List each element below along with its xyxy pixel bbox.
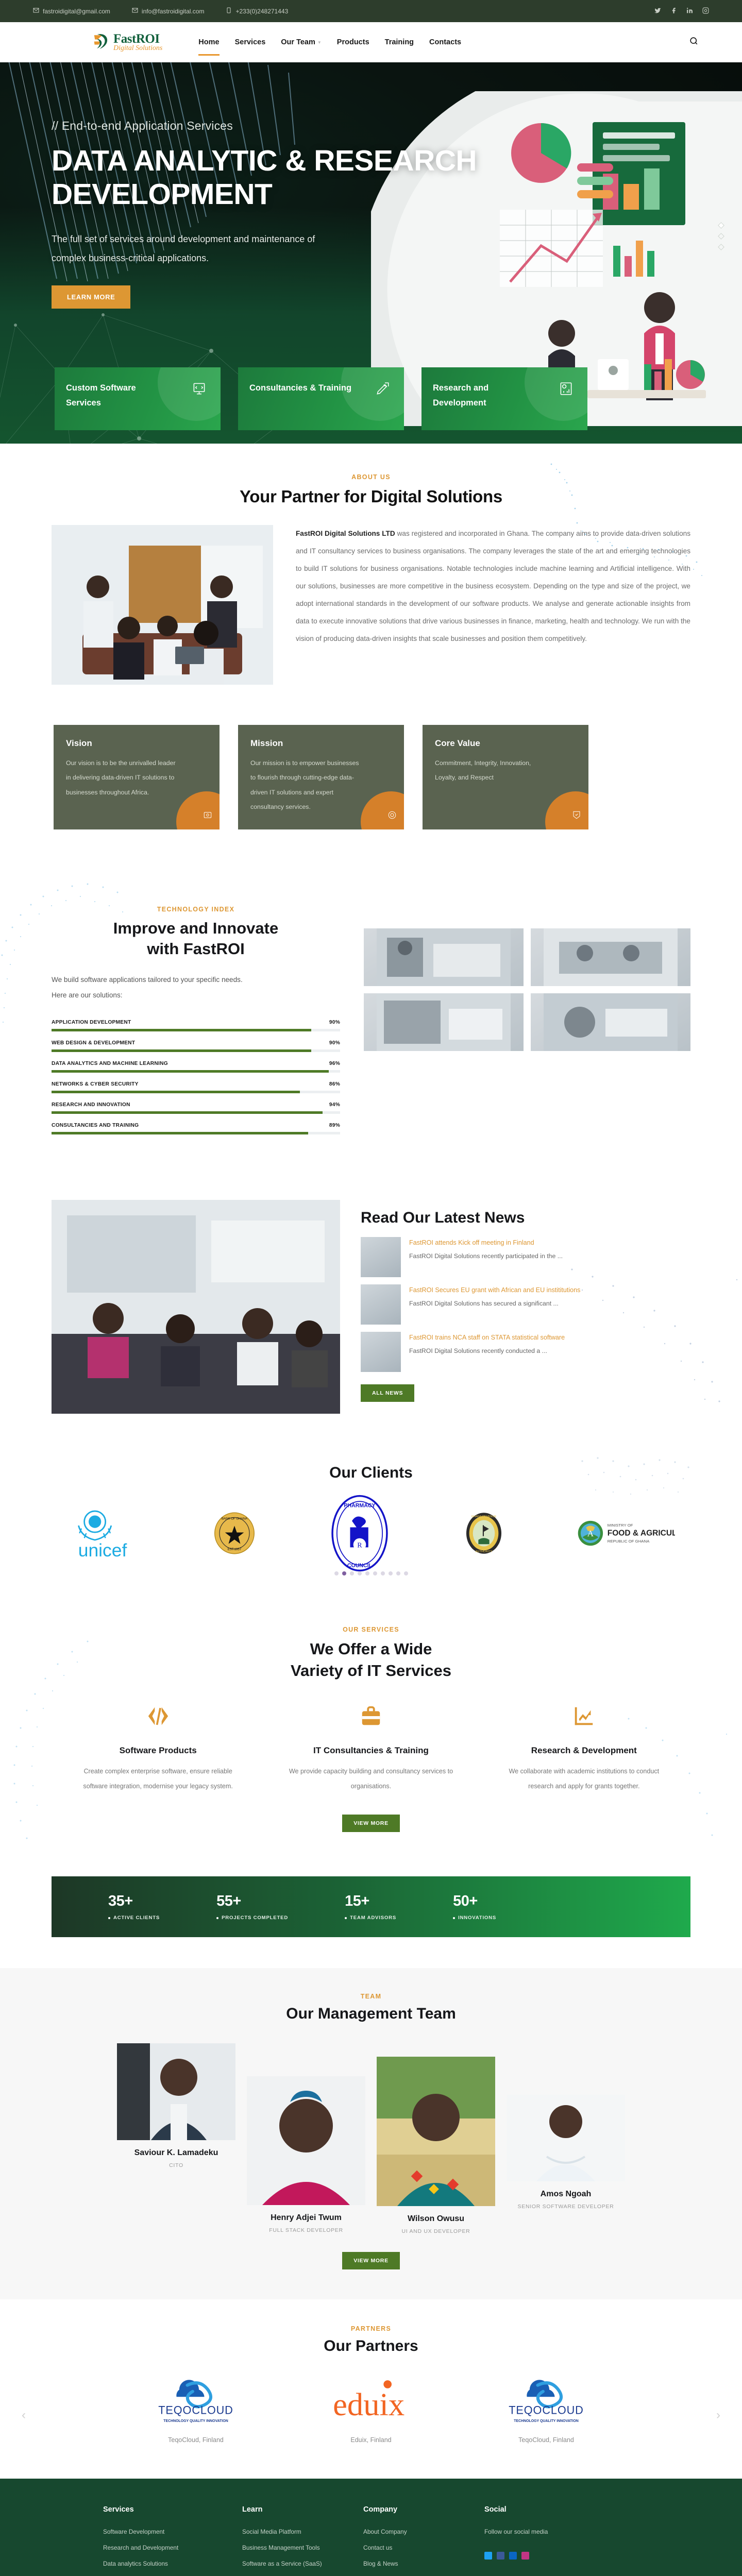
- clients-carousel-dot[interactable]: [334, 1571, 339, 1575]
- clients-carousel-dot[interactable]: [396, 1571, 400, 1575]
- footer-link[interactable]: Software Development: [103, 2528, 242, 2535]
- envelope-icon: [33, 7, 39, 15]
- stat-label: TEAM ADVISORS: [345, 1915, 396, 1921]
- topbar-phone[interactable]: +233(0)248271443: [226, 7, 288, 15]
- partner-card-teqocloud-1: TEQOCLOUD TECHNOLOGY QUALITY INNOVATION …: [137, 2372, 255, 2444]
- decorative-dot-field: [562, 1259, 742, 1429]
- tech-photo-3: [364, 993, 524, 1051]
- team-member-name: Amos Ngoah: [507, 2190, 625, 2199]
- svg-text:REPUBLIC OF GHANA: REPUBLIC OF GHANA: [608, 1539, 650, 1544]
- news-heading: Read Our Latest News: [361, 1209, 690, 1227]
- bar-track: [52, 1070, 340, 1073]
- twitter-icon[interactable]: [484, 2552, 492, 2560]
- footer-link[interactable]: Data analytics Solutions: [103, 2560, 242, 2567]
- stat-item: 50+INNOVATIONS: [453, 1893, 496, 1921]
- bar-value: 90%: [329, 1040, 340, 1046]
- stat-number: 15+: [345, 1893, 396, 1910]
- svg-text:MINISTRY OF: MINISTRY OF: [608, 1523, 633, 1528]
- topbar-email-1[interactable]: fastroidigital@gmail.com: [33, 7, 110, 15]
- search-icon[interactable]: [689, 36, 699, 48]
- svg-text:A: A: [587, 1529, 594, 1538]
- partner-card-eduix: eduix Eduix, Finland: [312, 2372, 430, 2444]
- offer-heading: We Offer a Wide Variety of IT Services: [52, 1638, 690, 1682]
- tech-photo-2: [531, 928, 690, 986]
- technology-index-bar-row: CONSULTANCIES AND TRAINING89%: [52, 1123, 340, 1134]
- hero-slider-dots[interactable]: [719, 217, 723, 256]
- nav-item-contacts[interactable]: Contacts: [429, 25, 461, 60]
- site-logo[interactable]: FastROI Digital Solutions: [89, 30, 162, 54]
- offer-view-more-button[interactable]: VIEW MORE: [342, 1815, 400, 1832]
- partners-heading: Our Partners: [0, 2337, 742, 2355]
- svg-text:unicef: unicef: [78, 1539, 127, 1560]
- client-logo-bank-of-ghana: BANK OF GHANA EST.1957: [213, 1502, 256, 1564]
- footer-link[interactable]: Research and Development: [103, 2544, 242, 2551]
- clients-carousel-dot[interactable]: [342, 1571, 346, 1575]
- team-member-card: Wilson Owusu UI AND UX DEVELOPER: [377, 2057, 495, 2234]
- site-header: FastROI Digital Solutions Home Services …: [0, 22, 742, 62]
- mission-text: Our mission is to empower businesses to …: [250, 756, 361, 814]
- technology-index-section: TECHNOLOGY INDEX Improve and Innovate wi…: [0, 879, 742, 1163]
- topbar-email-2[interactable]: info@fastroidigital.com: [132, 7, 205, 15]
- service-card-title: Research and Development: [433, 381, 536, 411]
- tech-photo-4: [531, 993, 690, 1051]
- footer-columns: ServicesSoftware DevelopmentResearch and…: [52, 2505, 690, 2576]
- hero-slider-dot-3[interactable]: [718, 244, 724, 250]
- partners-carousel: ‹ TEQOCLOUD TECHNOLOGY QUALITY INNOVATIO…: [0, 2372, 742, 2444]
- bar-fill: [52, 1091, 300, 1093]
- team-member-photo: [247, 2076, 365, 2205]
- service-cards-strip: Custom Software Services Consultancies &…: [52, 367, 690, 430]
- offer-card-text: We provide capacity building and consult…: [285, 1764, 457, 1794]
- team-grid: Saviour K. Lamadeku CITO Henry Adjei Twu…: [0, 2043, 742, 2234]
- footer-column-title: Social: [484, 2505, 605, 2514]
- footer-link[interactable]: Business Management Tools: [242, 2544, 363, 2551]
- decorative-dot-field: [577, 1453, 701, 1515]
- mission-card: Mission Our mission is to empower busine…: [238, 725, 404, 829]
- vision-text: Our vision is to be the unrivalled leade…: [66, 756, 177, 800]
- svg-text:COUNCIL: COUNCIL: [347, 1563, 373, 1569]
- chevron-down-icon: ▼: [317, 40, 322, 45]
- team-member-name: Wilson Owusu: [377, 2214, 495, 2224]
- bar-value: 96%: [329, 1061, 340, 1066]
- eduix-logo: eduix: [319, 2372, 423, 2427]
- tech-photo-grid: [364, 879, 690, 1051]
- tech-photo-1: [364, 928, 524, 986]
- offer-card-it-consultancies: IT Consultancies & Training We provide c…: [264, 1704, 477, 1794]
- stat-number: 35+: [108, 1893, 160, 1910]
- svg-text:EST.1957: EST.1957: [227, 1547, 241, 1551]
- twitter-icon[interactable]: [654, 7, 661, 15]
- facebook-icon[interactable]: [670, 7, 677, 15]
- decorative-dot-field: [618, 1714, 742, 1848]
- clients-section: Our Clients unicef BANK OF GHANA EST.195: [0, 1464, 742, 1591]
- news-thumbnail: [361, 1237, 401, 1277]
- partner-caption: TeqoCloud, Finland: [487, 2436, 605, 2444]
- bar-label: NETWORKS & CYBER SECURITY: [52, 1081, 139, 1087]
- hero-learn-more-button[interactable]: LEARN MORE: [52, 285, 130, 309]
- bar-track: [52, 1049, 340, 1052]
- client-logo-ghana-revenue-authority: GHANA REVENUE AUTHORITY: [464, 1502, 504, 1564]
- bar-track: [52, 1091, 340, 1093]
- clients-carousel-dot[interactable]: [404, 1571, 408, 1575]
- bar-fill: [52, 1070, 329, 1073]
- stat-item: 35+ACTIVE CLIENTS: [108, 1893, 160, 1921]
- our-services-section: OUR SERVICES We Offer a Wide Variety of …: [0, 1626, 742, 1848]
- footer-link[interactable]: Social Media Platform: [242, 2528, 363, 2535]
- clients-carousel-dot[interactable]: [373, 1571, 377, 1575]
- mission-title: Mission: [250, 738, 392, 749]
- vision-eye-icon: [203, 810, 212, 822]
- technology-index-bar-row: RESEARCH AND INNOVATION94%: [52, 1102, 340, 1114]
- value-badge-icon: [572, 810, 581, 822]
- decorative-dot-field: [0, 879, 201, 1059]
- partners-next-arrow[interactable]: ›: [716, 2408, 720, 2422]
- monitor-code-icon: [192, 382, 206, 398]
- svg-text:BANK OF GHANA: BANK OF GHANA: [221, 1517, 247, 1520]
- vision-mission-values: Vision Our vision is to be the unrivalle…: [52, 725, 690, 829]
- topbar-phone-text: +233(0)248271443: [235, 8, 288, 15]
- bar-label: CONSULTANCIES AND TRAINING: [52, 1123, 139, 1128]
- team-member-role: UI AND UX DEVELOPER: [377, 2228, 495, 2234]
- about-photo: [52, 525, 273, 685]
- stat-number: 55+: [216, 1893, 288, 1910]
- bar-label: DATA ANALYTICS AND MACHINE LEARNING: [52, 1061, 168, 1066]
- envelope-icon: [132, 7, 138, 15]
- footer-column-social: SocialFollow our social media: [484, 2505, 605, 2576]
- footer-link[interactable]: About Company: [363, 2528, 484, 2535]
- bar-fill: [52, 1049, 311, 1052]
- linkedin-icon[interactable]: [509, 2552, 517, 2560]
- hero-slider-dot-1[interactable]: [718, 222, 724, 229]
- footer-link[interactable]: Software as a Service (SaaS): [242, 2560, 363, 2567]
- offer-heading-line1: We Offer a Wide: [310, 1640, 432, 1658]
- topbar-email-1-text: fastroidigital@gmail.com: [43, 8, 110, 15]
- bar-track: [52, 1029, 340, 1031]
- bar-track: [52, 1111, 340, 1114]
- partner-caption: Eduix, Finland: [312, 2436, 430, 2444]
- core-value-text: Commitment, Integrity, Innovation, Loyal…: [435, 756, 546, 785]
- teqocloud-logo: TEQOCLOUD TECHNOLOGY QUALITY INNOVATION: [495, 2372, 598, 2427]
- core-value-card: Core Value Commitment, Integrity, Innova…: [423, 725, 588, 829]
- all-news-button[interactable]: ALL NEWS: [361, 1384, 414, 1402]
- technology-index-bar-row: NETWORKS & CYBER SECURITY86%: [52, 1081, 340, 1093]
- bar-value: 86%: [329, 1081, 340, 1087]
- team-member-role: CITO: [117, 2162, 235, 2168]
- stat-item: 15+TEAM ADVISORS: [345, 1893, 396, 1921]
- svg-text:TECHNOLOGY QUALITY INNOVAT: TECHNOLOGY QUALITY INNOVATION: [514, 2419, 579, 2423]
- team-member-card: Henry Adjei Twum FULL STACK DEVELOPER: [247, 2076, 365, 2233]
- svg-text:eduix: eduix: [333, 2386, 404, 2422]
- team-heading: Our Management Team: [0, 2005, 742, 2023]
- service-card-title: Consultancies & Training: [249, 381, 352, 396]
- nav-item-products[interactable]: Products: [337, 25, 369, 60]
- svg-text:AUTHORITY: AUTHORITY: [475, 1550, 492, 1553]
- news-item-title[interactable]: FastROI attends Kick off meeting in Finl…: [409, 1237, 690, 1248]
- nav-item-our-team[interactable]: Our Team▼: [281, 25, 322, 60]
- vision-card: Vision Our vision is to be the unrivalle…: [54, 725, 220, 829]
- latest-news-section: Read Our Latest News FastROI attends Kic…: [0, 1200, 742, 1434]
- partner-card-teqocloud-2: TEQOCLOUD TECHNOLOGY QUALITY INNOVATION …: [487, 2372, 605, 2444]
- vision-title: Vision: [66, 738, 207, 749]
- clients-carousel-dot[interactable]: [381, 1571, 385, 1575]
- clients-carousel-dot[interactable]: [365, 1571, 369, 1575]
- utility-topbar: fastroidigital@gmail.com info@fastroidig…: [0, 0, 742, 22]
- technology-index-bar-row: DATA ANALYTICS AND MACHINE LEARNING96%: [52, 1061, 340, 1073]
- clients-carousel-dot[interactable]: [358, 1571, 362, 1575]
- news-thumbnail: [361, 1332, 401, 1372]
- bar-fill: [52, 1111, 323, 1114]
- hero-slider-dot-2[interactable]: [718, 233, 724, 240]
- offer-heading-line2: Variety of IT Services: [291, 1662, 451, 1680]
- bar-value: 89%: [329, 1123, 340, 1128]
- topbar-email-2-text: info@fastroidigital.com: [142, 8, 205, 15]
- partner-caption: TeqoCloud, Finland: [137, 2436, 255, 2444]
- nav-item-training[interactable]: Training: [385, 25, 414, 60]
- stats-band: 35+ACTIVE CLIENTS55+PROJECTS COMPLETED15…: [52, 1876, 690, 1937]
- hero-title: DATA ANALYTIC & RESEARCH DEVELOPMENT: [52, 144, 484, 211]
- team-kicker: TEAM: [0, 1993, 742, 2000]
- service-card-title: Custom Software Services: [66, 381, 169, 411]
- instagram-icon[interactable]: [702, 7, 709, 15]
- decorative-dot-swirl: [536, 459, 706, 588]
- hero-eyebrow: // End-to-end Application Services: [52, 119, 690, 133]
- clients-carousel-dots[interactable]: [52, 1571, 690, 1575]
- teqocloud-logo: TEQOCLOUD TECHNOLOGY QUALITY INNOVATION: [144, 2372, 247, 2427]
- nav-item-services[interactable]: Services: [235, 25, 266, 60]
- bar-track: [52, 1132, 340, 1134]
- nav-item-home[interactable]: Home: [198, 25, 219, 60]
- bar-fill: [52, 1029, 311, 1031]
- chart-report-icon: [559, 382, 573, 398]
- pen-tools-icon: [376, 382, 390, 398]
- svg-text:TEQOCLOUD: TEQOCLOUD: [158, 2404, 233, 2417]
- footer-column-title: Company: [363, 2505, 484, 2514]
- footer-column-learn: LearnSocial Media PlatformBusiness Manag…: [242, 2505, 363, 2576]
- footer-link[interactable]: Blog & News: [363, 2560, 484, 2567]
- stat-label: INNOVATIONS: [453, 1915, 496, 1921]
- footer-social-text: Follow our social media: [484, 2528, 605, 2535]
- client-logo-unicef: unicef: [67, 1502, 139, 1564]
- facebook-icon[interactable]: [497, 2552, 504, 2560]
- about-section: ABOUT US Your Partner for Digital Soluti…: [0, 430, 742, 685]
- service-card-custom-software[interactable]: Custom Software Services: [55, 367, 221, 430]
- mission-target-icon: [387, 810, 397, 822]
- phone-icon: [226, 7, 232, 15]
- hero-subtitle: The full set of services around developm…: [52, 230, 340, 268]
- decorative-dot-field: [0, 1636, 103, 1848]
- footer-column-title: Learn: [242, 2505, 363, 2514]
- news-thumbnail: [361, 1284, 401, 1325]
- team-member-role: FULL STACK DEVELOPER: [247, 2227, 365, 2233]
- site-footer: ServicesSoftware DevelopmentResearch and…: [0, 2479, 742, 2576]
- management-team-section: TEAM Our Management Team Saviour K. Lama…: [0, 1968, 742, 2299]
- partners-kicker: PARTNERS: [0, 2325, 742, 2332]
- svg-text:TEQOCLOUD: TEQOCLOUD: [509, 2404, 583, 2417]
- instagram-icon[interactable]: [521, 2552, 529, 2560]
- footer-social-icons: [484, 2552, 605, 2560]
- bar-value: 90%: [329, 1020, 340, 1025]
- offer-kicker: OUR SERVICES: [52, 1626, 690, 1633]
- svg-text:FOOD & AGRICULTURE: FOOD & AGRICULTURE: [608, 1529, 675, 1537]
- team-member-card: Amos Ngoah SENIOR SOFTWARE DEVELOPER: [507, 2095, 625, 2210]
- briefcase-icon: [285, 1704, 457, 1731]
- main-navigation: Home Services Our Team▼ Products Trainin…: [198, 25, 461, 60]
- bar-label: RESEARCH AND INNOVATION: [52, 1102, 130, 1108]
- about-lead-bold: FastROI Digital Solutions LTD: [296, 530, 395, 537]
- team-member-role: SENIOR SOFTWARE DEVELOPER: [507, 2204, 625, 2210]
- team-member-photo: [377, 2057, 495, 2206]
- partners-prev-arrow[interactable]: ‹: [22, 2408, 26, 2422]
- team-member-photo: [507, 2095, 625, 2181]
- logo-tagline: Digital Solutions: [113, 45, 162, 52]
- team-member-photo: [117, 2043, 235, 2140]
- team-member-name: Henry Adjei Twum: [247, 2213, 365, 2223]
- team-member-card: Saviour K. Lamadeku CITO: [117, 2043, 235, 2168]
- topbar-social-links: [654, 7, 709, 15]
- footer-column-title: Services: [103, 2505, 242, 2514]
- stat-label: ACTIVE CLIENTS: [108, 1915, 160, 1921]
- stat-number: 50+: [453, 1893, 496, 1910]
- stat-item: 55+PROJECTS COMPLETED: [216, 1893, 288, 1921]
- svg-text:PHARMACY: PHARMACY: [344, 1502, 375, 1509]
- stat-label: PROJECTS COMPLETED: [216, 1915, 288, 1921]
- bar-fill: [52, 1132, 308, 1134]
- linkedin-icon[interactable]: [686, 7, 693, 15]
- service-card-research-development[interactable]: Research and Development: [421, 367, 587, 430]
- news-feature-photo: [52, 1200, 340, 1414]
- core-value-title: Core Value: [435, 738, 576, 749]
- fastroi-logo-icon: [89, 30, 112, 54]
- clients-carousel-dot[interactable]: [389, 1571, 393, 1575]
- footer-link[interactable]: Contact us: [363, 2544, 484, 2551]
- client-logo-pharmacy-council: R PHARMACY COUNCIL: [329, 1502, 390, 1564]
- team-view-more-button[interactable]: VIEW MORE: [342, 2252, 400, 2269]
- team-member-name: Saviour K. Lamadeku: [117, 2148, 235, 2158]
- clients-carousel-dot[interactable]: [350, 1571, 354, 1575]
- svg-text:GHANA REVENUE: GHANA REVENUE: [471, 1515, 496, 1518]
- partners-section: PARTNERS Our Partners ‹ TEQOCLOUD TECHNO…: [0, 2299, 742, 2465]
- bar-value: 94%: [329, 1102, 340, 1108]
- footer-column-services: ServicesSoftware DevelopmentResearch and…: [103, 2505, 242, 2576]
- offer-card-title: IT Consultancies & Training: [285, 1744, 457, 1757]
- service-card-consultancies-training[interactable]: Consultancies & Training: [238, 367, 404, 430]
- svg-text:TECHNOLOGY QUALITY INNOVAT: TECHNOLOGY QUALITY INNOVATION: [163, 2419, 228, 2423]
- footer-column-company: CompanyAbout CompanyContact usBlog & New…: [363, 2505, 484, 2576]
- logo-name: FastROI: [113, 32, 162, 45]
- svg-text:R: R: [357, 1541, 362, 1549]
